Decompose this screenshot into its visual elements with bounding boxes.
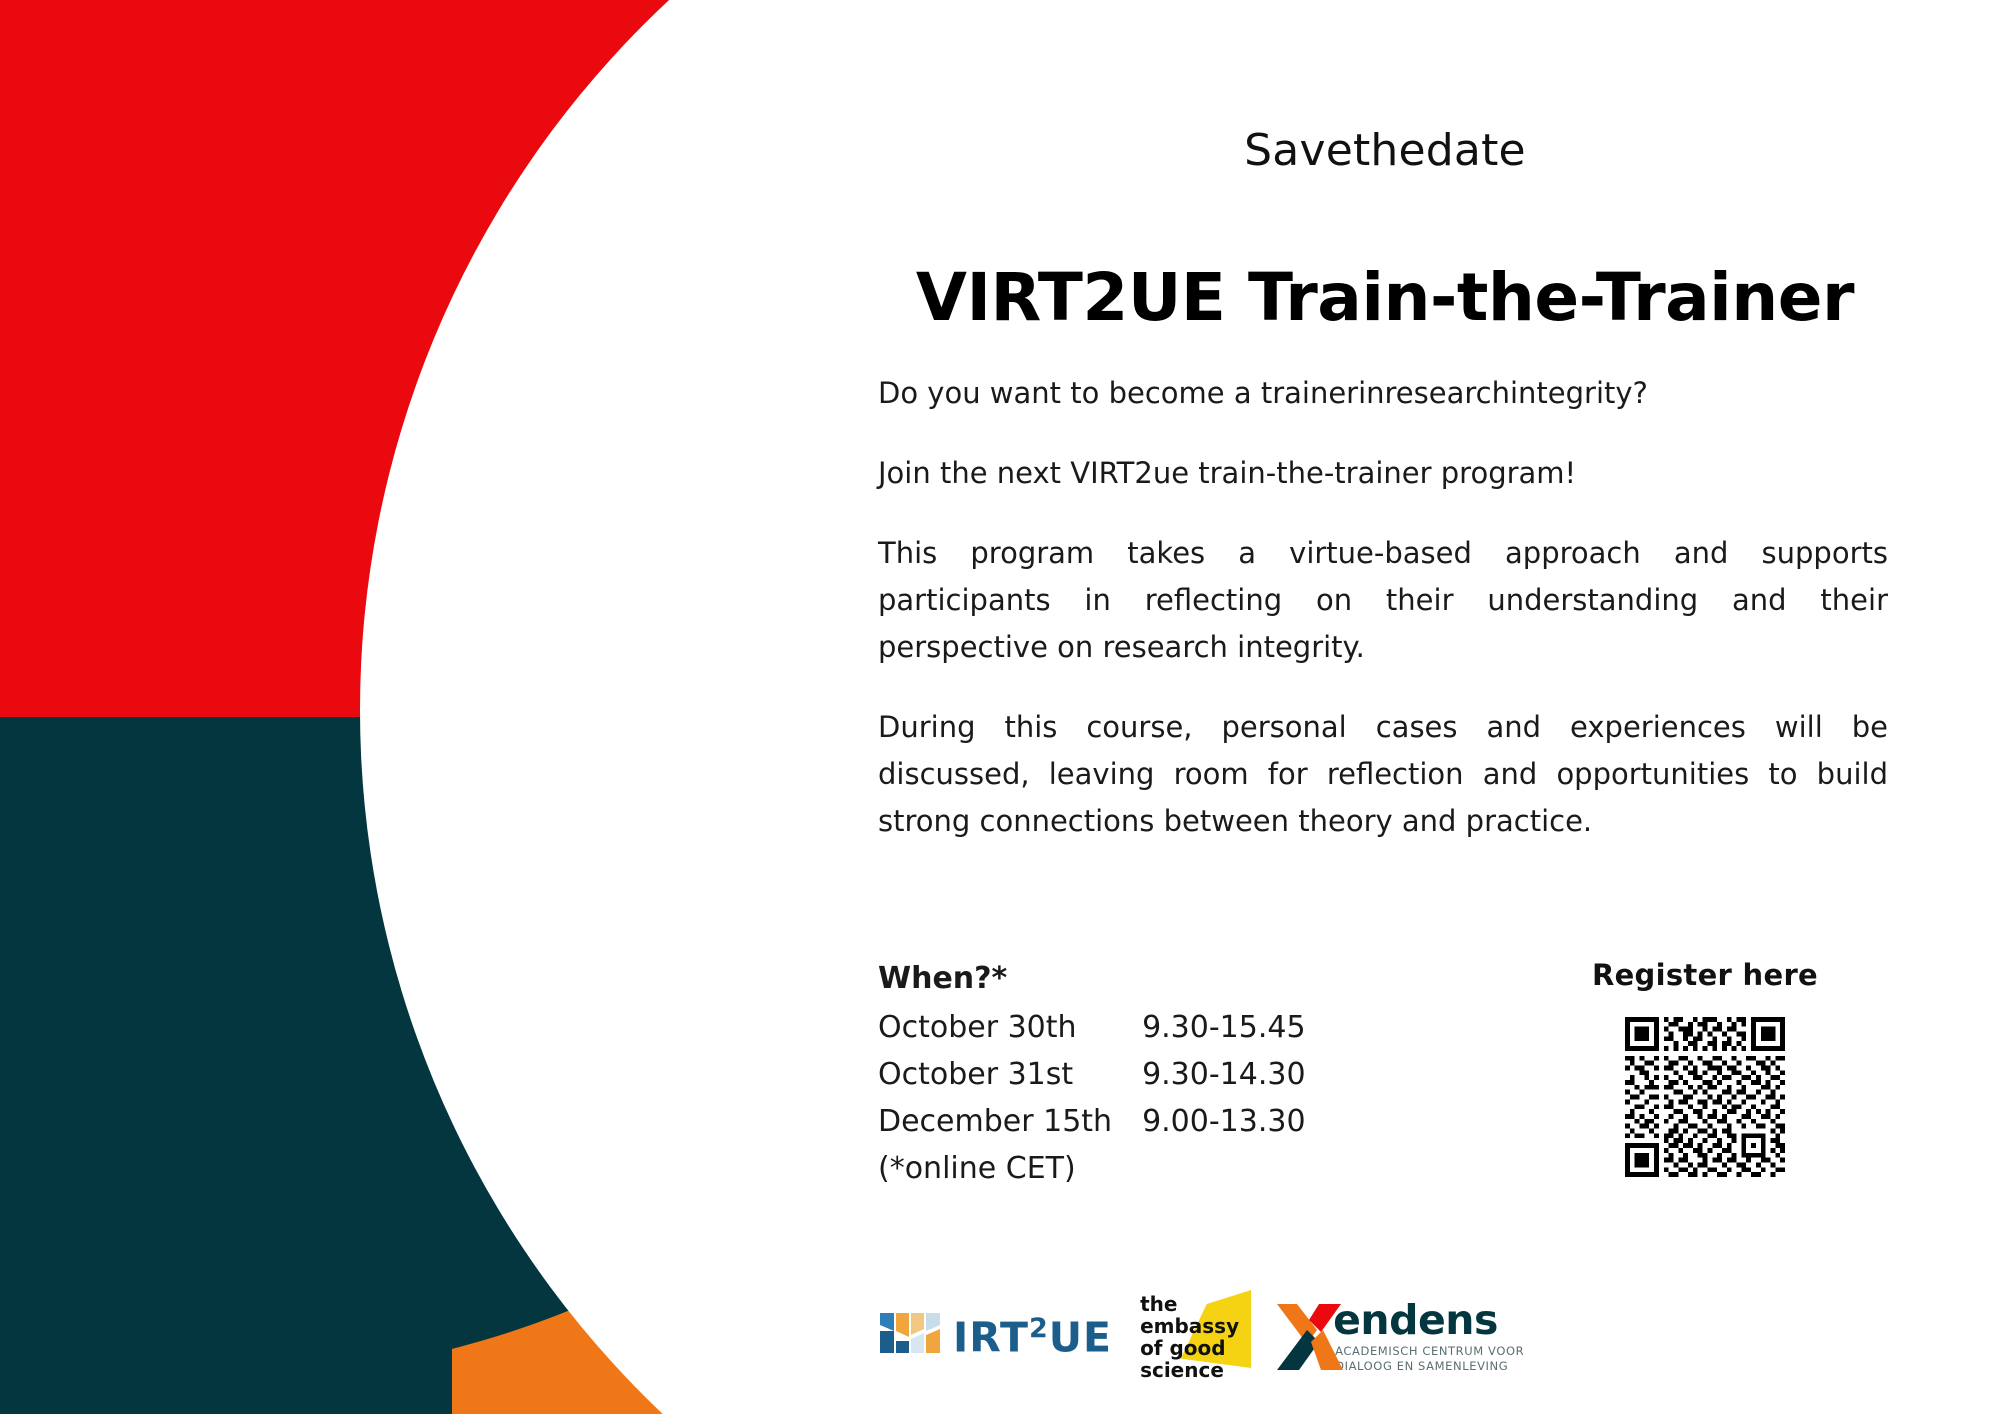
eyebrow-savethedate: Savethedate xyxy=(880,125,1890,176)
virt2ue-wordmark-suffix: UE xyxy=(1049,1314,1112,1362)
schedule-date: October 30th xyxy=(878,1004,1142,1051)
paragraph-join: Join the next VIRT2ue train-the-trainer … xyxy=(878,450,1888,497)
schedule-time: 9.30-15.45 xyxy=(1142,1004,1306,1051)
table-row: December 15th 9.00-13.30 xyxy=(878,1098,1306,1145)
qr-code-wrapper xyxy=(1580,1017,1830,1177)
xendens-subtitle: ACADEMISCH CENTRUM VOOR DIALOOG EN SAMEN… xyxy=(1335,1344,1524,1374)
schedule-time: 9.30-14.30 xyxy=(1142,1051,1306,1098)
register-block: Register here xyxy=(1580,958,1830,1177)
schedule-date: October 31st xyxy=(878,1051,1142,1098)
xendens-name: endens xyxy=(1333,1300,1524,1341)
virt2ue-mark-icon xyxy=(880,1311,946,1363)
paragraph-program-description: This program takes a virtue-based approa… xyxy=(878,530,1888,671)
xendens-x-mark-icon xyxy=(1271,1300,1347,1374)
poster-content: Savethedate VIRT2UE Train-the-Trainer Do… xyxy=(0,0,2000,1414)
schedule-block: When?* October 30th 9.30-15.45 October 3… xyxy=(878,955,1306,1192)
table-row: October 31st 9.30-14.30 xyxy=(878,1051,1306,1098)
poster-canvas: Savethedate VIRT2UE Train-the-Trainer Do… xyxy=(0,0,2000,1414)
virt2ue-wordmark: IRT2UE xyxy=(953,1315,1112,1359)
table-row: October 30th 9.30-15.45 xyxy=(878,1004,1306,1051)
virt2ue-wordmark-sup: 2 xyxy=(1029,1313,1049,1344)
xendens-subtitle-line-1: ACADEMISCH CENTRUM VOOR xyxy=(1335,1344,1524,1359)
register-heading: Register here xyxy=(1580,958,1830,992)
schedule-time: 9.00-13.30 xyxy=(1142,1098,1306,1145)
logo-xendens: endens ACADEMISCH CENTRUM VOOR DIALOOG E… xyxy=(1271,1300,1524,1374)
logo-embassy-of-good-science: the embassy of good science xyxy=(1138,1290,1245,1384)
paragraph-course-description: During this course, personal cases and e… xyxy=(878,704,1888,845)
embassy-line-4: science xyxy=(1140,1359,1239,1381)
virt2ue-wordmark-prefix: IRT xyxy=(953,1314,1029,1362)
partner-logos: IRT2UE the embassy of good science en xyxy=(880,1290,1524,1384)
xendens-subtitle-line-2: DIALOOG EN SAMENLEVING xyxy=(1335,1359,1524,1374)
schedule-date: December 15th xyxy=(878,1098,1142,1145)
paragraph-question: Do you want to become a trainerinresearc… xyxy=(878,370,1888,417)
schedule-note: (*online CET) xyxy=(878,1145,1306,1192)
embassy-line-3: of good xyxy=(1140,1337,1239,1359)
logo-virt2ue: IRT2UE xyxy=(880,1311,1112,1363)
qr-code-icon[interactable] xyxy=(1625,1017,1785,1177)
body-copy: Do you want to become a trainerinresearc… xyxy=(878,370,1888,878)
page-title: VIRT2UE Train-the-Trainer xyxy=(870,259,1900,336)
schedule-heading: When?* xyxy=(878,955,1306,1002)
xendens-text: endens ACADEMISCH CENTRUM VOOR DIALOOG E… xyxy=(1351,1300,1524,1374)
schedule-table: October 30th 9.30-15.45 October 31st 9.3… xyxy=(878,1004,1306,1145)
embassy-line-1: the xyxy=(1140,1293,1239,1315)
embassy-line-2: embassy xyxy=(1140,1315,1239,1337)
